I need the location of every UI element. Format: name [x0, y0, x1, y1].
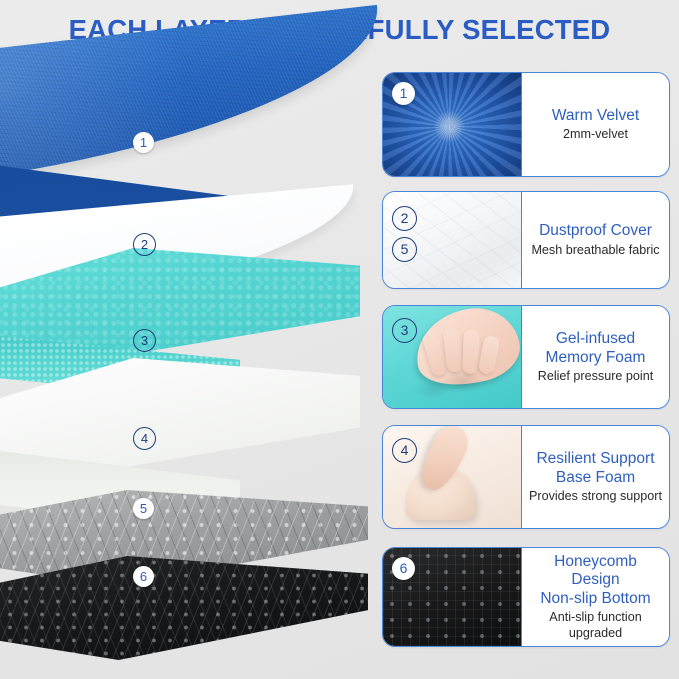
card-badge-1: 1: [392, 82, 415, 105]
card-body-warm-velvet: Warm Velvet 2mm-velvet: [521, 73, 669, 176]
base-foam-top-face: [0, 358, 360, 470]
card-badge-4: 4: [392, 438, 417, 463]
card-media-gel-foam: 3: [383, 306, 521, 408]
feature-card-honeycomb-bottom[interactable]: 6 Honeycomb Design Non-slip Bottom Anti-…: [382, 547, 670, 647]
feature-card-warm-velvet[interactable]: 1 Warm Velvet 2mm-velvet: [382, 72, 670, 177]
card-title-base-foam-line2: Base Foam: [556, 469, 635, 488]
feature-card-dustproof-cover[interactable]: 2 5 Dustproof Cover Mesh breathable fabr…: [382, 191, 670, 289]
card-badge-3: 3: [392, 318, 417, 343]
card-subtitle-base-foam: Provides strong support: [529, 488, 662, 504]
card-media-honeycomb: 6: [383, 548, 521, 646]
hand-finger-4: [478, 335, 501, 375]
hand-finger-3: [462, 330, 480, 375]
card-subtitle-honeycomb: Anti-slip function upgraded: [528, 609, 663, 641]
infographic-page: EACH LAYER IS CAREFULLY SELECTED 1 2 3 4…: [0, 0, 679, 679]
feature-card-gel-memory-foam[interactable]: 3 Gel-infused Memory Foam Relief pressur…: [382, 305, 670, 409]
card-media-base-foam: 4: [383, 426, 521, 528]
stack-badge-4: 4: [133, 427, 156, 450]
card-title-gel-memory-foam-line1: Gel-infused: [556, 330, 635, 349]
card-title-gel-memory-foam-line2: Memory Foam: [546, 349, 646, 368]
feature-card-base-foam[interactable]: 4 Resilient Support Base Foam Provides s…: [382, 425, 670, 529]
card-subtitle-dustproof-cover: Mesh breathable fabric: [531, 242, 659, 258]
stack-badge-2: 2: [133, 233, 156, 256]
card-body-base-foam: Resilient Support Base Foam Provides str…: [521, 426, 669, 528]
card-media-velvet: 1: [383, 73, 521, 176]
hand-finger-2: [442, 327, 463, 373]
stack-badge-6: 6: [133, 566, 154, 587]
card-badge-6: 6: [392, 557, 415, 580]
stack-badge-1: 1: [133, 132, 154, 153]
card-badge-2: 2: [392, 206, 417, 231]
stack-badge-3: 3: [133, 329, 156, 352]
hand-finger-1: [421, 331, 449, 378]
stack-badge-5: 5: [133, 498, 154, 519]
card-title-honeycomb-line1: Honeycomb Design: [528, 553, 663, 590]
card-body-gel-memory-foam: Gel-infused Memory Foam Relief pressure …: [521, 306, 669, 408]
card-title-honeycomb-line2: Non-slip Bottom: [540, 590, 650, 609]
mattress-layer-stack-illustration: 1 2 3 4 5 6: [0, 58, 375, 673]
card-subtitle-gel-memory-foam: Relief pressure point: [538, 368, 654, 384]
gel-foam-top-face: [0, 248, 360, 358]
card-title-dustproof-cover: Dustproof Cover: [539, 222, 652, 241]
hand-illustration: [408, 306, 521, 395]
stack-layer-6-honeycomb-bottom: [0, 556, 368, 660]
card-subtitle-warm-velvet: 2mm-velvet: [563, 126, 628, 142]
card-title-warm-velvet: Warm Velvet: [552, 107, 639, 126]
card-body-dustproof-cover: Dustproof Cover Mesh breathable fabric: [521, 192, 669, 288]
card-media-dustproof-cover: 2 5: [383, 192, 521, 288]
card-badge-5: 5: [392, 237, 417, 262]
card-body-honeycomb-bottom: Honeycomb Design Non-slip Bottom Anti-sl…: [521, 548, 669, 646]
card-title-base-foam-line1: Resilient Support: [536, 450, 654, 469]
